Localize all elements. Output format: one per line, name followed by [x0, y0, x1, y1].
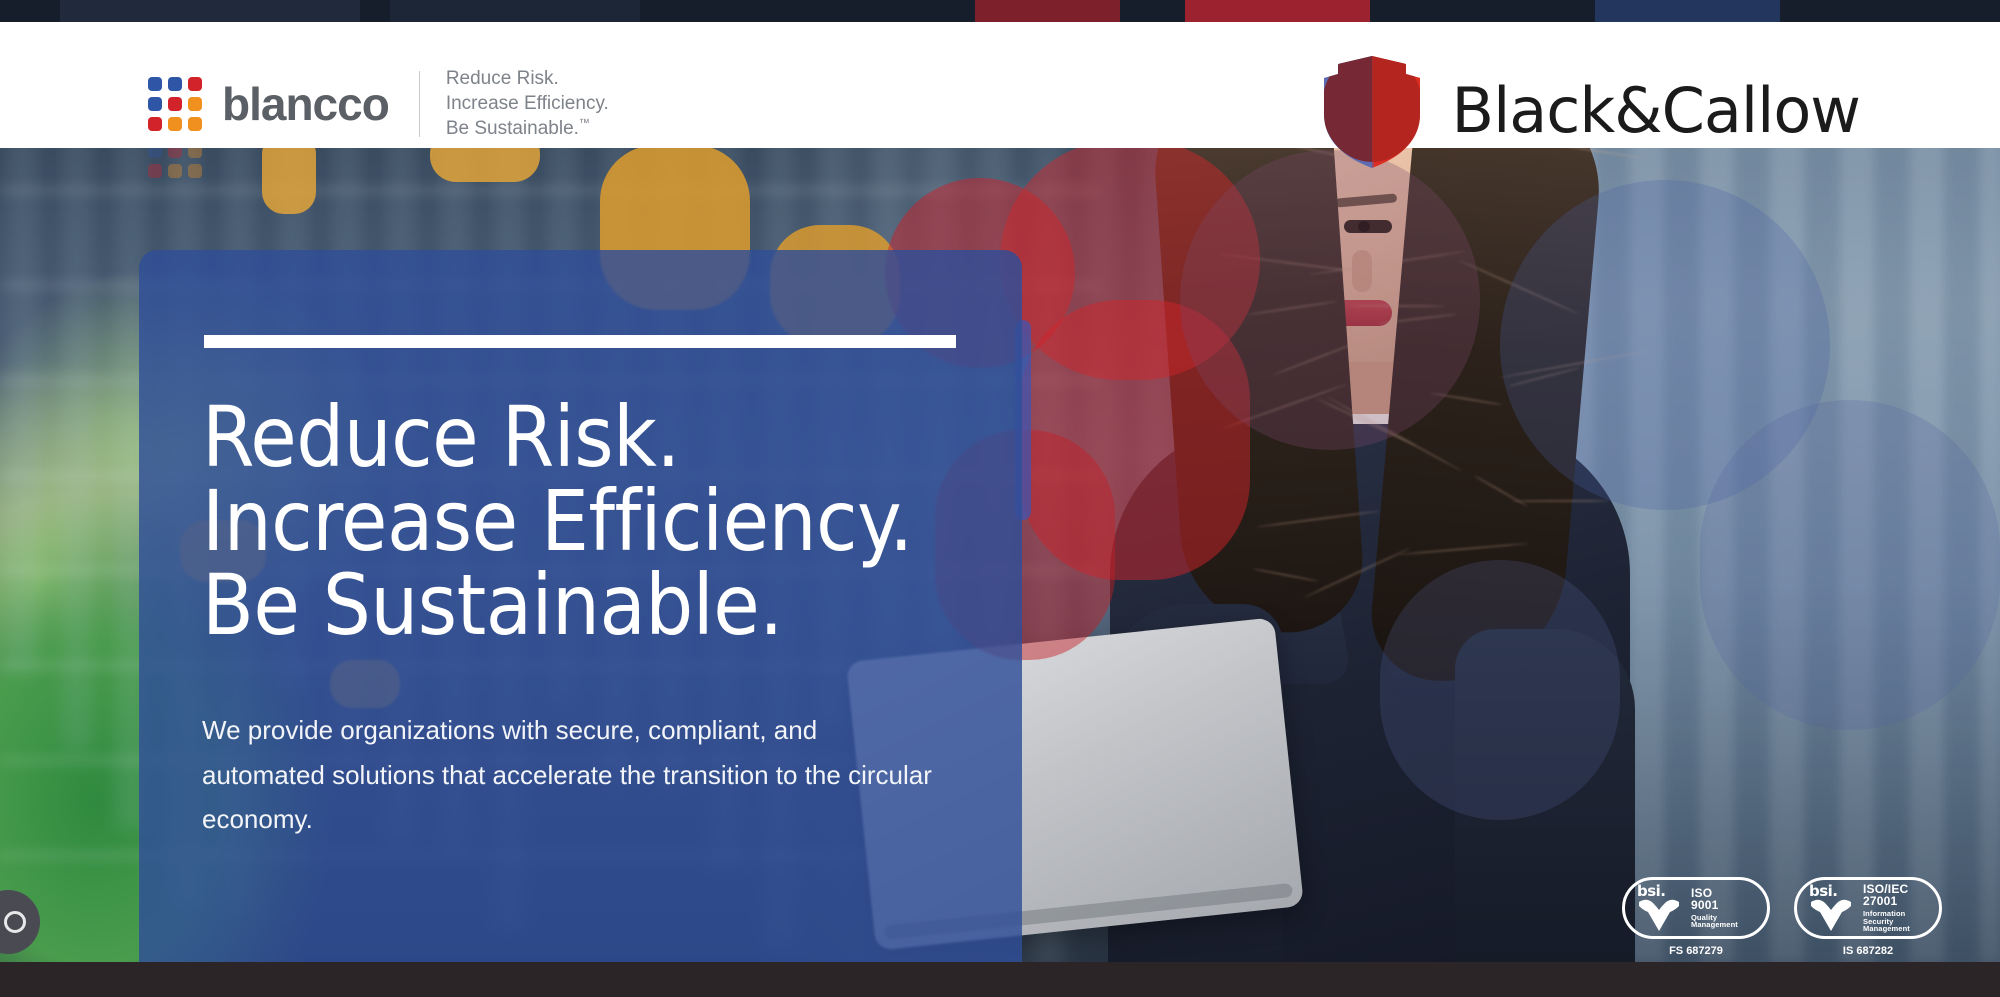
sliver-band: [390, 0, 640, 22]
decor-blob-14: [1380, 560, 1620, 820]
bsi-logo-icon: bsi.: [1631, 882, 1687, 934]
blancco-tagline: Reduce Risk. Increase Efficiency. Be Sus…: [446, 66, 609, 141]
certification-badge: bsi.ISO 9001Quality ManagementFS 687279: [1622, 877, 1770, 957]
logo-dot-8: [168, 117, 182, 131]
decor-blob-13: [1700, 400, 2000, 730]
sliver-band: [60, 0, 360, 22]
logo-dot-4: [148, 97, 162, 111]
logo-dot-3: [188, 77, 202, 91]
badge-pill: bsi.ISO 9001Quality Management: [1622, 877, 1770, 939]
badge-scope: Quality Management: [1691, 914, 1738, 930]
logo-dot-4: [148, 148, 162, 158]
bottom-bar: [0, 962, 2000, 997]
blancco-brand-lockup[interactable]: blancco Reduce Risk. Increase Efficiency…: [148, 66, 609, 141]
logo-dot-5: [168, 97, 182, 111]
badge-text: ISO 9001Quality Management: [1691, 887, 1738, 930]
page-header: blancco Reduce Risk. Increase Efficiency…: [0, 22, 2000, 148]
slide-canvas: Be Sustainable. blancco Reduce Risk. Inc…: [0, 0, 2000, 997]
sliver-band-red: [975, 0, 1120, 22]
badge-standard: ISO 9001: [1691, 887, 1738, 912]
circle-icon: [4, 911, 26, 933]
logo-dot-9: [188, 164, 202, 178]
logo-dot-7: [148, 164, 162, 178]
bsi-logo-icon: bsi.: [1803, 882, 1859, 934]
hero-body-copy: We provide organizations with secure, co…: [202, 708, 932, 842]
blackcallow-brand-lockup[interactable]: Black&Callow: [1316, 52, 1860, 170]
badge-reference: FS 687279: [1622, 945, 1770, 957]
blackcallow-wordmark: Black&Callow: [1452, 80, 1860, 142]
previous-slide-sliver: [0, 0, 2000, 22]
accent-rule: [204, 335, 956, 348]
logo-dot-6: [188, 97, 202, 111]
decor-blob-11: [1180, 150, 1480, 450]
logo-dot-5: [168, 148, 182, 158]
bsi-kitemark-icon: [1637, 898, 1681, 932]
badge-text: ISO/IEC 27001Information Security Manage…: [1863, 883, 1931, 933]
trademark-symbol: ™: [579, 118, 590, 130]
logo-dot-2: [168, 77, 182, 91]
certification-badge: bsi.ISO/IEC 27001Information Security Ma…: [1794, 877, 1942, 957]
brand-divider: [419, 71, 420, 137]
hero-headline: Reduce Risk. Increase Efficiency. Be Sus…: [202, 395, 1002, 647]
logo-dot-8: [168, 164, 182, 178]
blancco-dot-grid-logo: [148, 77, 202, 131]
logo-dot-6: [188, 148, 202, 158]
ghost-tagline: Be Sustainable.: [400, 148, 533, 154]
sliver-band-red: [1185, 0, 1370, 22]
badge-pill: bsi.ISO/IEC 27001Information Security Ma…: [1794, 877, 1942, 939]
hero-message-panel: Reduce Risk. Increase Efficiency. Be Sus…: [139, 250, 1022, 962]
bsi-kitemark-icon: [1809, 898, 1853, 932]
sliver-band-blue: [1595, 0, 1780, 22]
logo-dot-9: [188, 117, 202, 131]
logo-dot-1: [148, 77, 162, 91]
blackcallow-shield-logo: [1316, 52, 1428, 170]
badge-standard: ISO/IEC 27001: [1863, 883, 1931, 908]
certification-badges: bsi.ISO 9001Quality ManagementFS 687279b…: [1622, 877, 1942, 957]
ghost-dot-grid: [148, 148, 202, 178]
badge-scope: Information Security Management: [1863, 910, 1931, 933]
badge-reference: IS 687282: [1794, 945, 1942, 957]
blancco-wordmark: blancco: [222, 81, 389, 127]
logo-dot-7: [148, 117, 162, 131]
